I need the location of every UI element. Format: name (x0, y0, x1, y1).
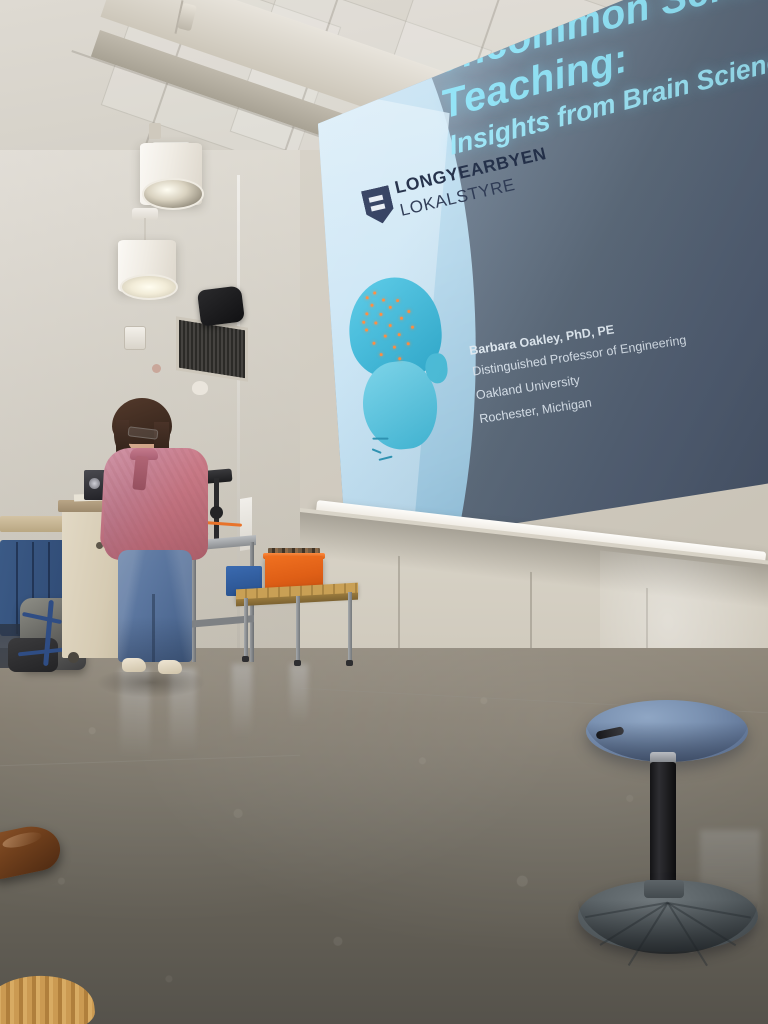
presenter-shoe-right (158, 660, 182, 674)
presenter-shoe-left (122, 658, 146, 672)
wall-vent (176, 316, 248, 381)
lamp-clip-icon (149, 123, 161, 139)
floor-reflection (232, 664, 252, 738)
lamp-reflector-icon (120, 274, 178, 300)
lecture-room-photo: LONGYEARBYEN LOKALSTYRE (0, 0, 768, 1024)
head-with-neurons-icon (341, 264, 482, 485)
ceiling-speaker (197, 285, 245, 326)
floor-reflection (290, 664, 308, 724)
lamp-reflector-icon (142, 178, 204, 210)
stool-column (650, 762, 676, 884)
presenter (96, 398, 216, 688)
wall-dome-light (192, 381, 208, 395)
projection-screen: LONGYEARBYEN LOKALSTYRE (318, 0, 768, 550)
slide-byline-block: Barbara Oakley, PhD, PE Distinguished Pr… (468, 293, 768, 431)
wall-thermostat[interactable] (124, 326, 146, 350)
slide-title-block: Uncommon Sense Teaching: Insights from B… (428, 0, 768, 162)
wall-sensor-icon (152, 364, 161, 373)
